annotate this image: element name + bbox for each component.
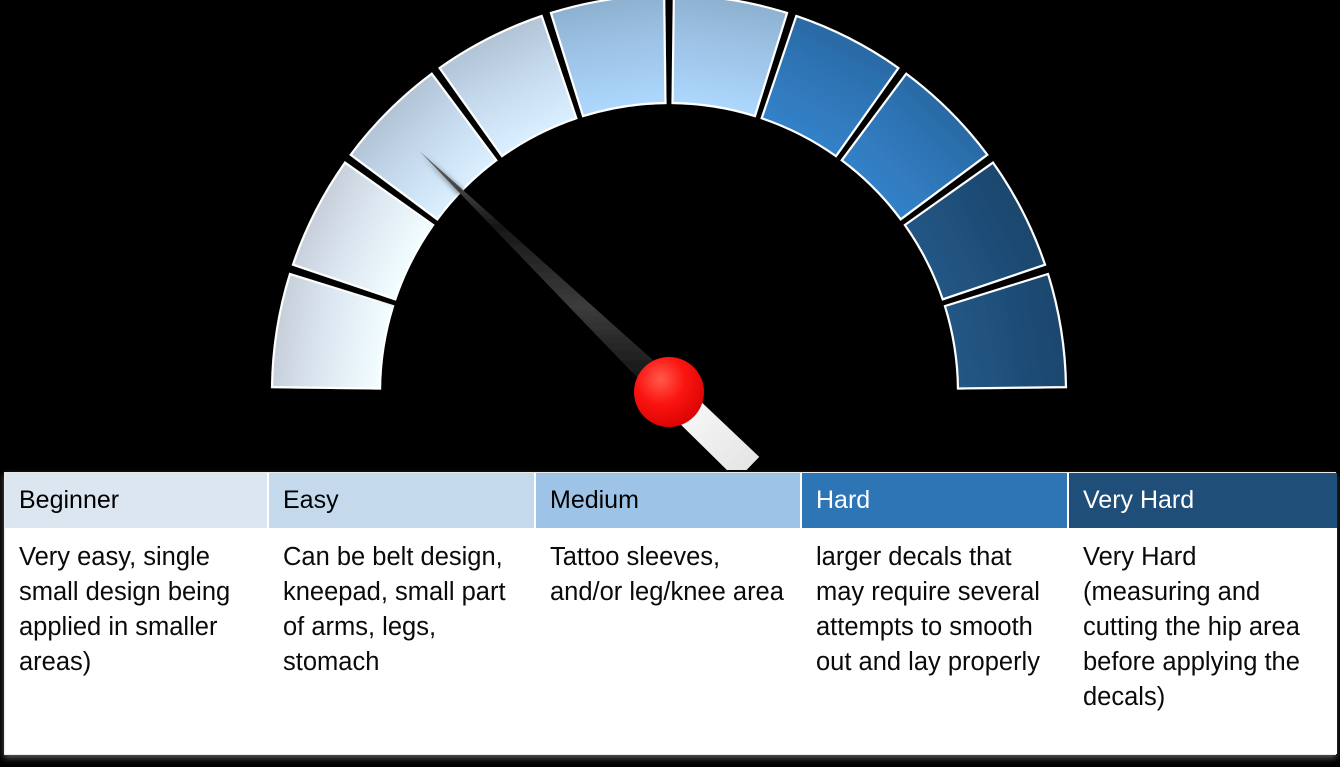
gauge-segment-group [272,0,1066,388]
difficulty-legend-table: Beginner Easy Medium Hard Very Hard Very… [4,472,1336,755]
legend-header-hard[interactable]: Hard [802,473,1069,528]
gauge-svg [0,0,1340,470]
legend-header-label: Hard [816,488,870,513]
needle-hub [634,357,704,427]
legend-header-label: Easy [283,488,339,513]
legend-header-label: Medium [550,488,639,513]
legend-header-label: Very Hard [1083,488,1194,513]
slide-canvas: Beginner Easy Medium Hard Very Hard Very… [0,0,1340,767]
needle-pointer [419,151,678,401]
difficulty-gauge [0,0,1340,470]
legend-header-label: Beginner [19,488,119,513]
legend-header-easy[interactable]: Easy [269,473,536,528]
legend-cell-beginner: Very easy, single small design being app… [5,528,269,754]
legend-header-medium[interactable]: Medium [536,473,802,528]
legend-cell-easy: Can be belt design, kneepad, small part … [269,528,536,754]
legend-header-beginner[interactable]: Beginner [5,473,269,528]
legend-cell-hard: larger decals that may require several a… [802,528,1069,754]
legend-header-row: Beginner Easy Medium Hard Very Hard [5,473,1335,528]
legend-body-row: Very easy, single small design being app… [5,528,1335,754]
gauge-needle [419,151,759,470]
legend-cell-very-hard: Very Hard (measuring and cutting the hip… [1069,528,1337,754]
legend-cell-medium: Tattoo sleeves, and/or leg/knee area [536,528,802,754]
legend-header-very-hard[interactable]: Very Hard [1069,473,1337,528]
